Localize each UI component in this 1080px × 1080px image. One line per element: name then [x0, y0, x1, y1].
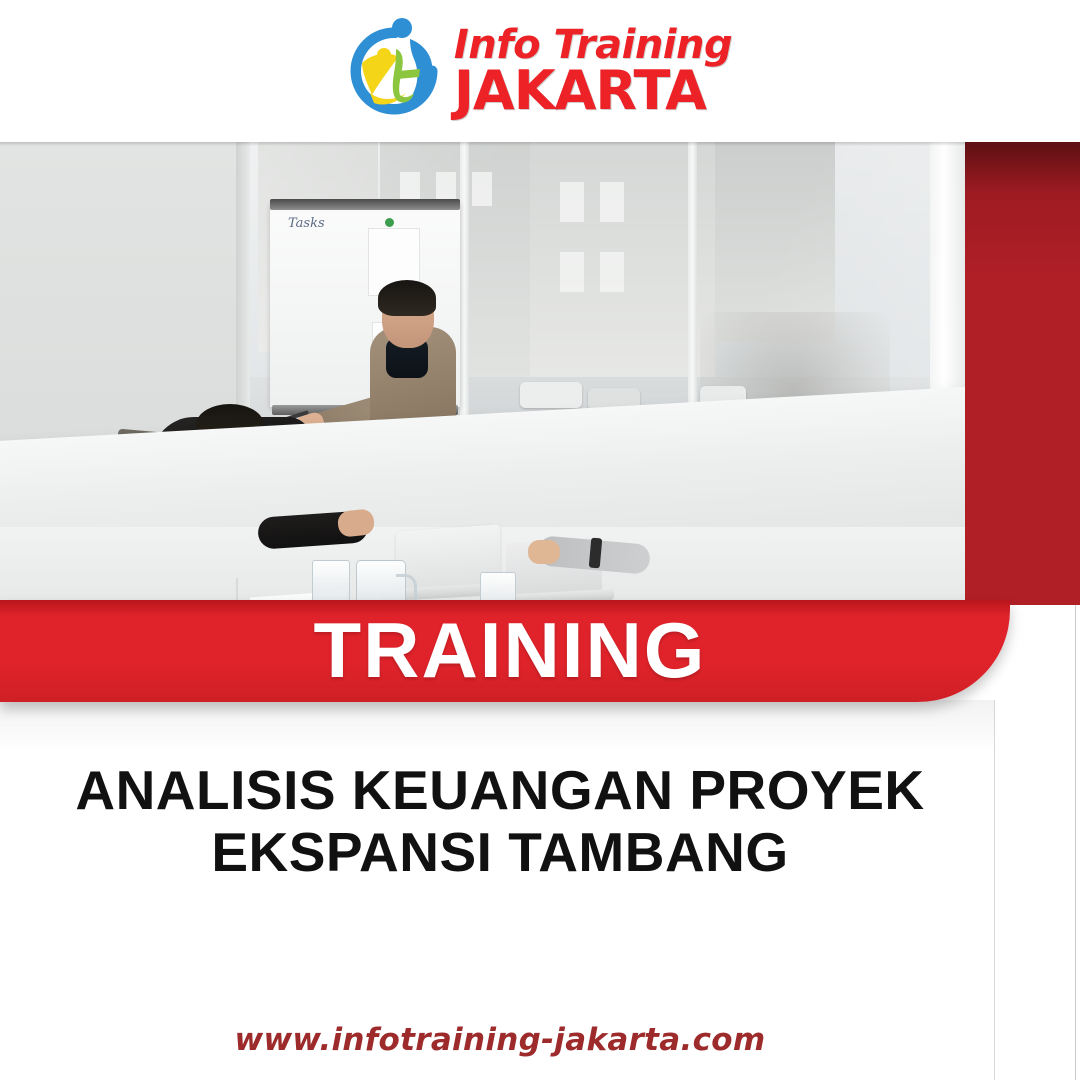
brand-wordmark: Info Training JAKARTA — [454, 27, 732, 115]
photo-top-shadow — [0, 142, 1080, 146]
meeting-room-training-photo: Tasks — [0, 142, 965, 602]
course-title: ANALISIS KEUANGAN PROYEK EKSPANSI TAMBAN… — [0, 760, 1000, 883]
participant-right-hand — [528, 540, 560, 564]
website-url[interactable]: www.infotraining-jakarta.com — [235, 1022, 766, 1058]
green-dot-marker — [385, 218, 394, 227]
brand-name-line2: JAKARTA — [454, 66, 732, 116]
course-title-line1: ANALISIS KEUANGAN PROYEK — [0, 760, 1000, 822]
flipchart-heading: Tasks — [288, 216, 325, 231]
training-banner: TRAINING — [0, 600, 1010, 702]
water-jug-handle — [396, 574, 417, 602]
it-circle-logo-icon — [340, 15, 448, 127]
course-title-line2: EKSPANSI TAMBANG — [0, 822, 1000, 884]
footer: www.infotraining-jakarta.com — [0, 1022, 1000, 1058]
training-banner-label: TRAINING — [314, 611, 707, 689]
brand-logo[interactable]: Info Training JAKARTA — [340, 15, 732, 127]
water-glass — [480, 572, 516, 602]
presenter-hair — [378, 280, 436, 316]
header: Info Training JAKARTA — [0, 0, 1080, 142]
red-side-band — [965, 142, 1080, 605]
flipchart-top-rail — [270, 199, 460, 210]
table-seam — [236, 578, 238, 602]
water-glass — [312, 560, 350, 602]
poster-canvas: Info Training JAKARTA — [0, 0, 1080, 1080]
